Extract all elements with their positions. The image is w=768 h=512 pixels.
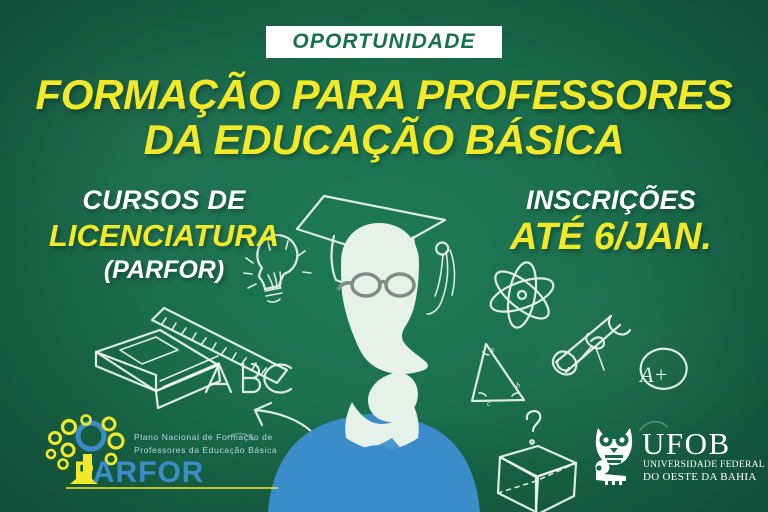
parfor-wordmark-p: P	[74, 456, 93, 489]
ufob-subtitle-line-1: UNIVERSIDADE FEDERAL	[643, 460, 765, 470]
ufob-subtitle-line-2: DO OESTE DA BAHIA	[643, 471, 757, 483]
parfor-wordmark-rest: ARFOR	[93, 456, 205, 489]
ufob-logo: UFOB UNIVERSIDADE FEDERAL DO OESTE DA BA…	[586, 418, 746, 490]
ufob-wordmark: UFOB	[642, 426, 731, 461]
parfor-tagline-line-1: Plano Nacional de Formação de	[134, 432, 273, 442]
owl-key-icon	[595, 428, 632, 485]
parfor-tagline-line-2: Professores da Educação Básica	[134, 445, 277, 455]
promotional-poster: a b c A+	[0, 0, 768, 512]
logos-layer: PARFOR Plano Nacional de Formação de Pro…	[0, 0, 768, 512]
parfor-logo: PARFOR Plano Nacional de Formação de Pro…	[46, 414, 278, 494]
svg-text:PARFOR: PARFOR	[74, 456, 204, 489]
